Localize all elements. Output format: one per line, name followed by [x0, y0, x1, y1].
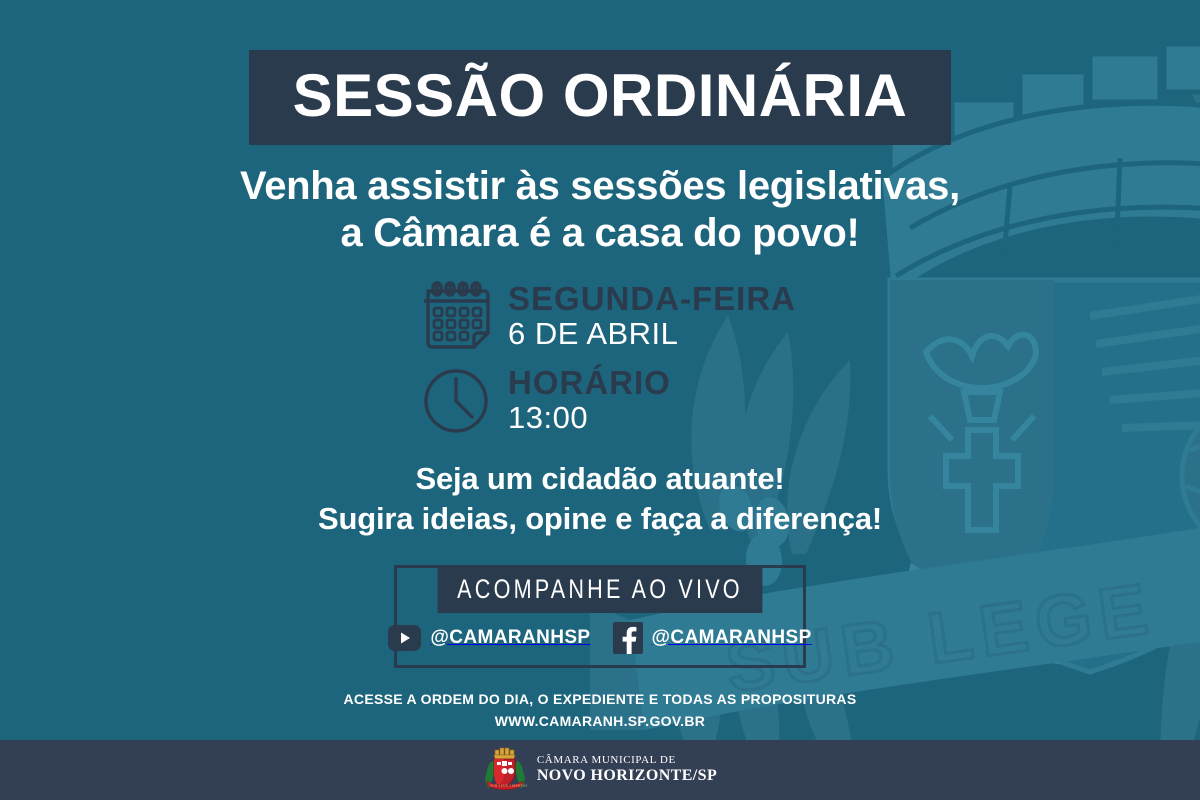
event-time-value: 13:00 — [508, 401, 671, 436]
website-url[interactable]: WWW.CAMARANH.SP.GOV.BR — [344, 710, 857, 732]
cta-line-1: Seja um cidadão atuante! — [318, 459, 882, 499]
title-banner: SESSÃO ORDINÁRIA — [249, 50, 952, 145]
access-line-1: ACESSE A ORDEM DO DIA, O EXPEDIENTE E TO… — [344, 688, 857, 710]
svg-text:SUB LEGE LIBERTAS: SUB LEGE LIBERTAS — [490, 784, 527, 788]
footer-title: NOVO HORIZONTE/SP — [537, 767, 717, 785]
live-header-label: ACOMPANHE AO VIVO — [438, 568, 763, 613]
footer-bar: SUB LEGE LIBERTAS CÂMARA MUNICIPAL DE NO… — [0, 740, 1200, 800]
event-details: SEGUNDA-FEIRA 6 DE ABRIL HORÁRIO 13:00 — [422, 279, 822, 437]
subtitle: Venha assistir às sessões legislativas, … — [240, 163, 960, 257]
youtube-handle: @CAMARANHSP — [430, 627, 590, 649]
event-time-row: HORÁRIO 13:00 — [422, 363, 822, 437]
subtitle-line-2: a Câmara é a casa do povo! — [240, 210, 960, 257]
event-time-label: HORÁRIO — [508, 365, 671, 401]
event-date-value: 6 DE ABRIL — [508, 317, 796, 352]
cta-line-2: Sugira ideias, opine e faça a diferença! — [318, 499, 882, 539]
social-links: @CAMARANHSP @CAMARANHSP — [397, 613, 803, 665]
clock-icon — [422, 363, 490, 437]
facebook-handle: @CAMARANHSP — [652, 627, 812, 649]
calendar-icon — [422, 279, 490, 353]
facebook-link[interactable]: @CAMARANHSP — [613, 622, 812, 654]
event-date-label: SEGUNDA-FEIRA — [508, 281, 796, 317]
youtube-link[interactable]: @CAMARANHSP — [388, 624, 590, 652]
footer-subtitle: CÂMARA MUNICIPAL DE — [537, 754, 717, 767]
live-broadcast-box: ACOMPANHE AO VIVO @CAMARANHSP — [394, 565, 806, 668]
call-to-action: Seja um cidadão atuante! Sugira ideias, … — [318, 459, 882, 538]
subtitle-line-1: Venha assistir às sessões legislativas, — [240, 163, 960, 210]
youtube-icon — [388, 624, 421, 652]
page-title: SESSÃO ORDINÁRIA — [293, 64, 908, 127]
event-date-row: SEGUNDA-FEIRA 6 DE ABRIL — [422, 279, 822, 353]
facebook-icon — [613, 622, 643, 654]
coat-of-arms-icon: SUB LEGE LIBERTAS — [483, 747, 527, 793]
access-info: ACESSE A ORDEM DO DIA, O EXPEDIENTE E TO… — [344, 688, 857, 733]
